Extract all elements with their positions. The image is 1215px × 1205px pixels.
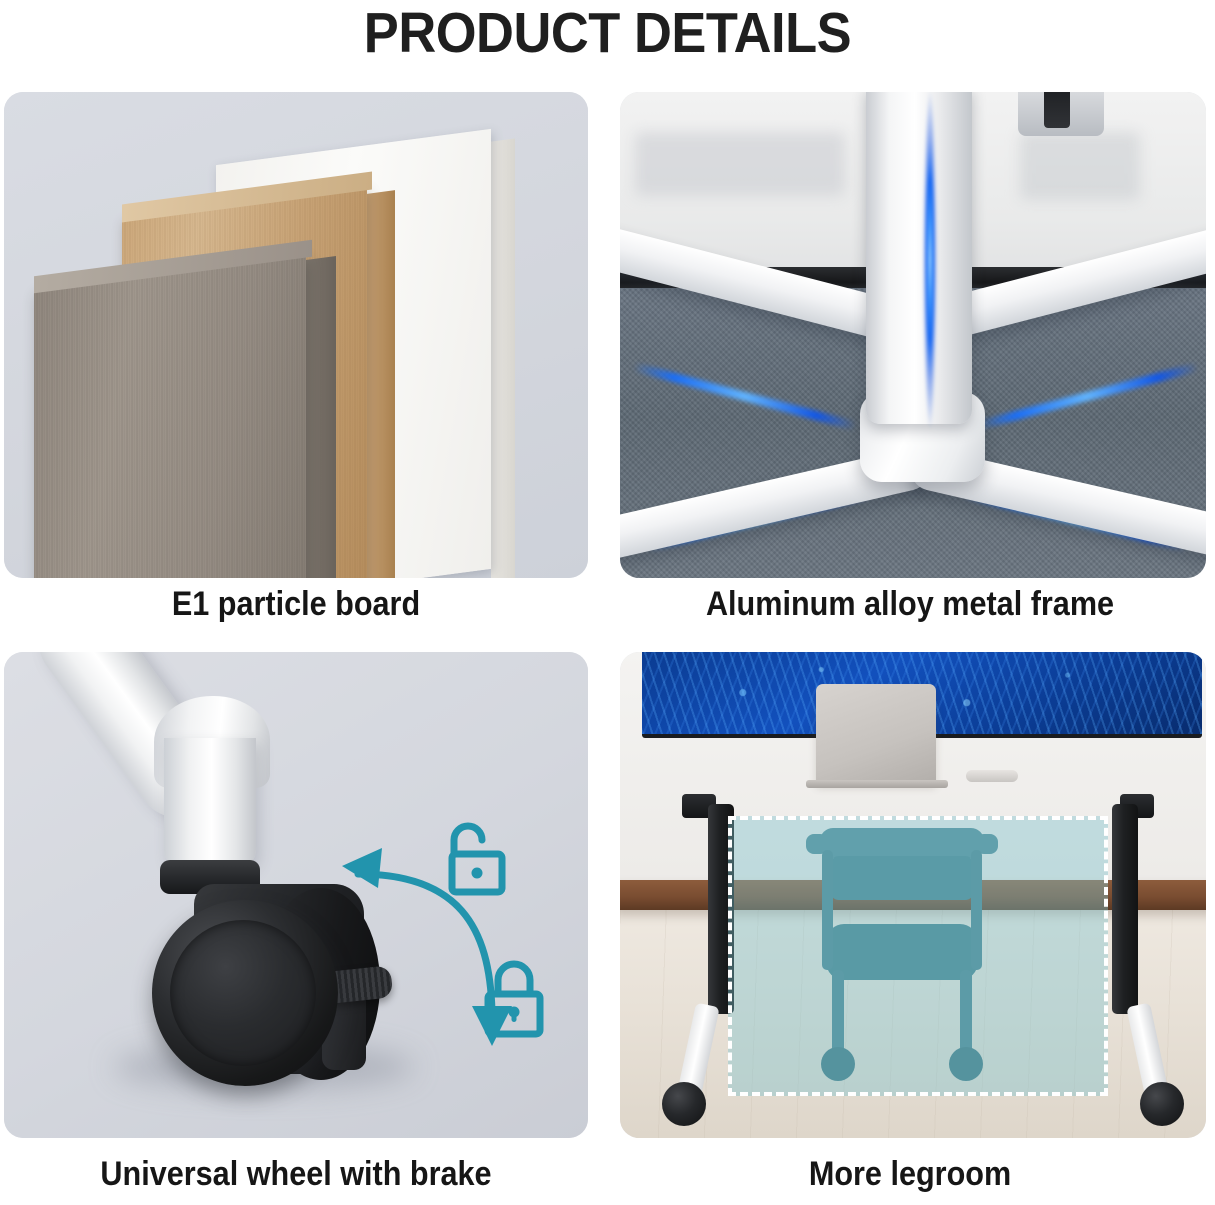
lock-toggle-annotation xyxy=(340,830,558,1058)
table-clip-slot xyxy=(1044,92,1070,128)
panel-universal-wheel[interactable] xyxy=(4,652,588,1138)
panel-more-legroom-image xyxy=(620,652,1206,1138)
lock-icon xyxy=(468,952,560,1044)
caption-more-legroom: More legroom xyxy=(644,1152,1177,1196)
unlock-icon xyxy=(428,814,520,906)
desk-caster-right xyxy=(1140,1082,1184,1126)
panel-universal-wheel-image xyxy=(4,652,588,1138)
caption-universal-wheel: Universal wheel with brake xyxy=(30,1152,563,1196)
caption-particle-board: E1 particle board xyxy=(30,582,563,626)
panel-more-legroom[interactable] xyxy=(620,652,1206,1138)
panel-particle-board-image xyxy=(4,92,588,578)
laptop-lid xyxy=(816,684,936,784)
product-details-page: PRODUCT DETAILS E1 particle board xyxy=(0,0,1215,1205)
wall-shadow-right xyxy=(1020,132,1140,200)
wall-shadow-left xyxy=(635,132,845,196)
laptop-base xyxy=(806,780,948,788)
panel-particle-board[interactable] xyxy=(4,92,588,578)
white-board-edge xyxy=(491,138,515,578)
desk-caster-left xyxy=(662,1082,706,1126)
desk-leg-right xyxy=(1112,804,1138,1014)
page-title: PRODUCT DETAILS xyxy=(49,2,1167,64)
caster-wheel-hub xyxy=(170,920,316,1066)
grey-board-face xyxy=(34,254,306,578)
blue-glow-column xyxy=(922,92,938,434)
oak-board-edge xyxy=(367,190,395,578)
frame-column xyxy=(866,92,972,424)
caption-aluminum-frame: Aluminum alloy metal frame xyxy=(644,582,1177,626)
grey-board-edge xyxy=(306,256,336,578)
desk-accessory xyxy=(966,770,1018,782)
panel-aluminum-frame[interactable] xyxy=(620,92,1206,578)
legroom-highlight-area xyxy=(728,816,1108,1096)
panel-aluminum-frame-image xyxy=(620,92,1206,578)
leg-tube-lower xyxy=(164,738,256,868)
